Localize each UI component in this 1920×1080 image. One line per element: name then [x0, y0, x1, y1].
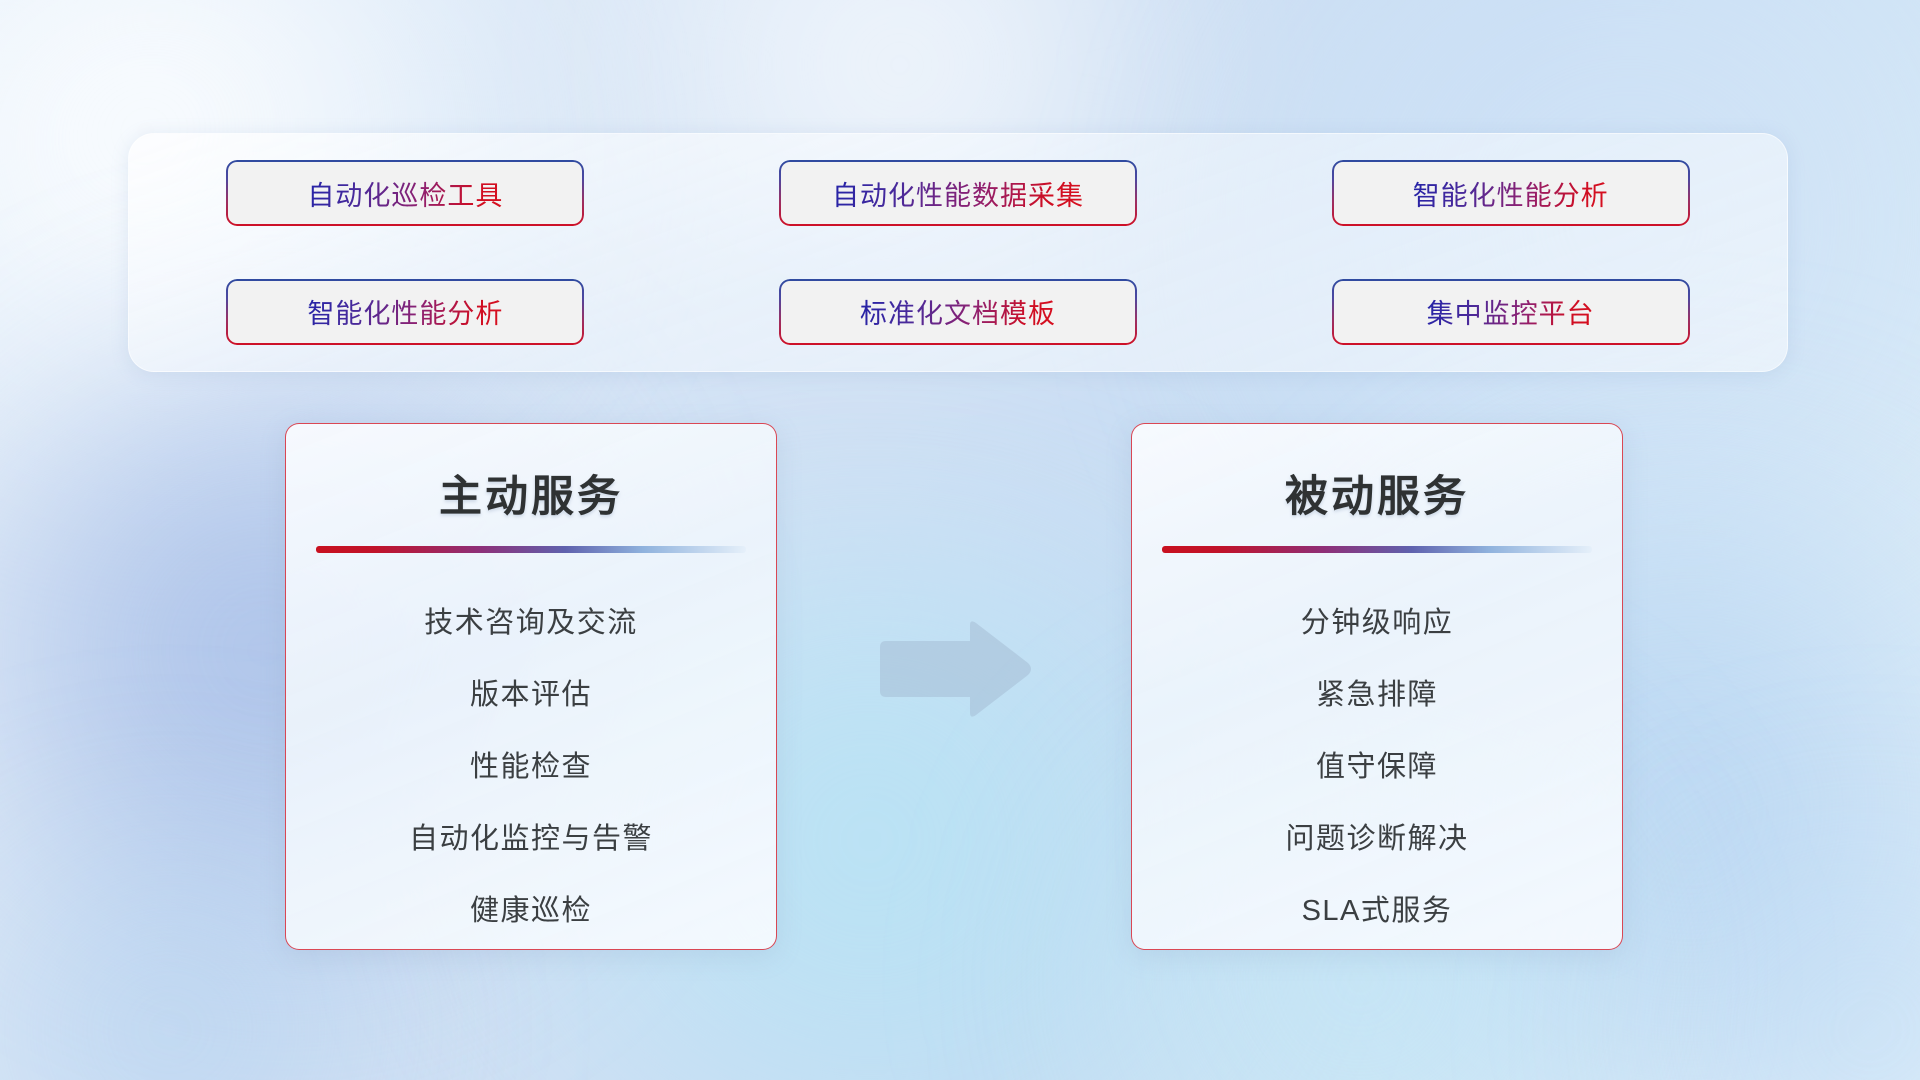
service-card-item: 版本评估	[470, 659, 592, 731]
capability-pill-centralized-monitoring-platform[interactable]: 集中监控平台	[1332, 279, 1690, 345]
service-card-title: 主动服务	[439, 462, 623, 524]
service-card-item: SLA式服务	[1302, 875, 1453, 947]
service-card-divider	[316, 546, 746, 553]
capability-pill-automated-inspection-tool[interactable]: 自动化巡检工具	[226, 160, 584, 226]
service-card-item: 健康巡检	[470, 875, 592, 947]
service-card-item: 性能检查	[470, 731, 592, 803]
service-card-divider	[1162, 546, 1592, 553]
capability-pill-label: 集中监控平台	[1427, 292, 1595, 331]
capability-pill-label: 智能化性能分析	[1413, 174, 1609, 213]
service-card-item: 问题诊断解决	[1285, 803, 1468, 875]
capability-pill-intelligent-performance-analysis-top[interactable]: 智能化性能分析	[1332, 160, 1690, 226]
capability-pill-intelligent-performance-analysis-bottom[interactable]: 智能化性能分析	[226, 279, 584, 345]
capability-panel: 自动化巡检工具 自动化性能数据采集 智能化性能分析 智能化性能分析 标准化文档模…	[128, 133, 1788, 372]
capability-pill-label: 智能化性能分析	[307, 292, 503, 331]
service-card-item-list: 技术咨询及交流 版本评估 性能检查 自动化监控与告警 健康巡检	[286, 587, 776, 947]
service-card-item: 分钟级响应	[1301, 587, 1454, 659]
service-card-item: 紧急排障	[1316, 659, 1438, 731]
service-card-item: 技术咨询及交流	[424, 587, 638, 659]
service-card-item: 自动化监控与告警	[409, 803, 653, 875]
capability-pill-standard-document-template[interactable]: 标准化文档模板	[779, 279, 1137, 345]
service-card-item: 值守保障	[1316, 731, 1438, 803]
service-card-item-list: 分钟级响应 紧急排障 值守保障 问题诊断解决 SLA式服务	[1132, 587, 1622, 947]
service-card-title: 被动服务	[1285, 462, 1469, 524]
capability-pill-label: 自动化性能数据采集	[832, 174, 1084, 213]
service-card-proactive[interactable]: 主动服务 技术咨询及交流 版本评估 性能检查 自动化监控与告警 健康巡检	[285, 423, 777, 950]
service-card-reactive[interactable]: 被动服务 分钟级响应 紧急排障 值守保障 问题诊断解决 SLA式服务	[1131, 423, 1623, 950]
capability-pill-label: 标准化文档模板	[860, 292, 1056, 331]
capability-pill-label: 自动化巡检工具	[307, 174, 503, 213]
capability-pill-automated-performance-collection[interactable]: 自动化性能数据采集	[779, 160, 1137, 226]
